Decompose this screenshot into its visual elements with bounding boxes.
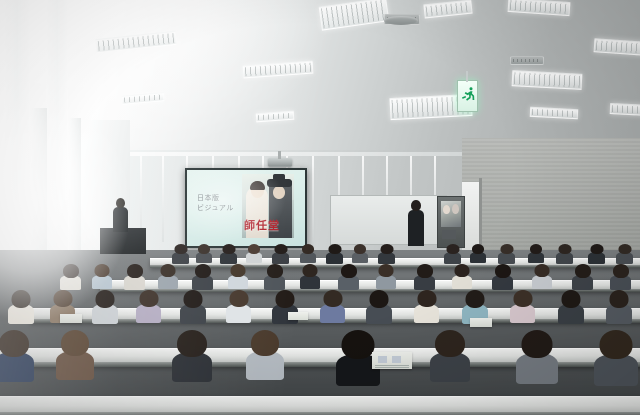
audience-member: [180, 290, 206, 324]
presenter: [113, 198, 128, 232]
audience-member-body: [300, 275, 320, 289]
audience-member: [606, 290, 632, 324]
wall-panel-line: [162, 156, 164, 242]
audience-member-head: [446, 244, 459, 254]
audience-member-head: [63, 264, 79, 278]
slide-caption-line1: 日本版: [197, 193, 234, 203]
audience-member: [452, 264, 472, 289]
audience-member-body: [158, 275, 178, 289]
projector-mount: [278, 151, 281, 159]
handout-left: [60, 314, 82, 323]
audience-member-head: [562, 290, 581, 308]
audience-member-head: [96, 290, 115, 308]
audience-member-head: [513, 290, 532, 307]
exit-sign-stem: [466, 71, 468, 82]
audience-member: [220, 244, 237, 264]
standing-staff-head: [411, 200, 421, 211]
slide-photo-woman-hair: [250, 181, 265, 190]
audience-member: [366, 290, 392, 324]
audience-member-head: [455, 264, 470, 277]
audience-member-head: [177, 330, 207, 357]
audience-member: [556, 244, 573, 264]
audience-member: [56, 330, 94, 380]
audience-member-head: [302, 244, 314, 254]
slide-photo: [242, 174, 294, 238]
audience-member-head: [380, 244, 393, 254]
ceiling-light-louver: [258, 113, 292, 120]
slide-photo-hat-brim: [267, 179, 292, 187]
audience-member: [352, 244, 368, 263]
audience-member: [192, 264, 213, 290]
audience-member-head: [435, 330, 465, 357]
lecture-hall-photo: 日本版 ビジュアル 師任堂: [0, 0, 640, 415]
audience-member-head: [174, 244, 187, 254]
audience-member: [92, 290, 118, 324]
audience-member-head: [231, 264, 246, 277]
audience-member: [528, 244, 544, 263]
audience-member-head: [328, 244, 341, 254]
audience-member: [172, 244, 189, 264]
audience-member: [610, 264, 631, 290]
window-curtain: [46, 0, 68, 200]
audience-member-head: [522, 330, 553, 358]
ceiling-light-louver: [510, 0, 569, 14]
audience-member-head: [590, 244, 603, 254]
audience-member: [300, 264, 320, 289]
audience-member-head: [61, 330, 89, 356]
ceiling-light-louver: [612, 105, 640, 114]
ceiling-light-louver: [532, 109, 576, 117]
audience-member-head: [195, 264, 211, 278]
audience-member: [264, 264, 285, 290]
handout-figure: [392, 356, 401, 363]
audience-member: [444, 244, 461, 264]
slide-photo-hat-crown: [273, 174, 285, 181]
audience-member-head: [267, 264, 283, 278]
ceiling-air-vent: [510, 56, 544, 65]
audience-member: [172, 330, 212, 382]
ceiling-light-louver: [124, 94, 162, 102]
poster-artwork: [441, 201, 461, 227]
audience-member-head: [417, 264, 433, 278]
audience-member-head: [323, 290, 342, 307]
handout-text-line: [375, 365, 409, 366]
audience-member-head: [184, 290, 203, 308]
audience-member: [376, 264, 396, 289]
round-air-vent-icon: [384, 16, 418, 25]
audience-member: [0, 330, 34, 382]
whiteboard: [330, 195, 447, 245]
ceiling-light-louver: [426, 2, 471, 17]
audience-member: [558, 290, 584, 324]
audience-member: [616, 244, 633, 264]
wall-trim-band: [110, 152, 470, 156]
audience-member-head: [370, 290, 389, 308]
audience-member: [300, 244, 316, 263]
poster-face-left-icon: [443, 205, 450, 214]
audience-member-head: [274, 244, 287, 254]
presenter-head: [116, 198, 125, 208]
poster-caption-bar: [442, 230, 456, 239]
window-curtain: [4, 0, 30, 200]
audience-member: [326, 244, 343, 264]
standing-staff-body: [408, 210, 424, 246]
presenter-body: [113, 207, 128, 232]
slide-photo-man-figure: [269, 181, 292, 238]
slide-caption-line2: ビジュアル: [197, 203, 234, 213]
poster-face-right-icon: [452, 204, 459, 214]
audience-member-head: [530, 244, 542, 254]
audience-member: [246, 330, 284, 380]
audience-member-head: [354, 244, 366, 254]
ceiling-light-louver: [514, 72, 581, 87]
audience-member-head: [95, 264, 110, 277]
audience-member-head: [303, 264, 318, 277]
audience-member-head: [251, 330, 279, 356]
audience-member-head: [575, 264, 591, 278]
audience-member-head: [161, 264, 176, 277]
audience-member-body: [228, 275, 248, 289]
audience-member-head: [139, 290, 158, 307]
ceiling-light-louver: [245, 63, 311, 77]
exit-running-person-icon: [460, 86, 475, 106]
audience-member: [498, 244, 515, 264]
wall-panel-line: [312, 156, 314, 242]
audience-member: [572, 264, 593, 290]
audience-member: [60, 264, 81, 290]
audience-member-head: [610, 290, 629, 308]
handout-mid: [288, 312, 308, 320]
audience-member-head: [618, 244, 631, 254]
audience-member: [510, 290, 535, 323]
audience-member: [470, 244, 486, 263]
poster-display-stand: [437, 196, 465, 248]
slide-photo-man-face: [273, 186, 285, 199]
standing-staff-member: [408, 200, 424, 246]
audience-member: [338, 264, 359, 290]
emergency-exit-sign: [457, 80, 478, 112]
audience-member: [320, 290, 345, 323]
slide-photo-woman-figure: [246, 186, 268, 238]
audience-member-head: [229, 290, 248, 307]
slide-photo-sky: [242, 174, 294, 200]
audience-member: [136, 290, 161, 323]
audience-member-head: [466, 290, 485, 308]
audience-member-body: [376, 275, 396, 289]
audience-member-head: [127, 264, 143, 278]
audience-member: [92, 264, 112, 289]
audience-member-head: [53, 290, 72, 307]
audience-member-head: [341, 264, 357, 278]
audience-member-head: [248, 244, 260, 254]
audience-member-body: [92, 275, 112, 289]
audience-member: [8, 290, 34, 324]
audience-member: [226, 290, 251, 323]
audience-member: [272, 244, 289, 264]
audience-member-head: [500, 244, 513, 254]
audience-member: [430, 330, 470, 382]
audience-member-head: [613, 264, 629, 278]
audience-member: [196, 244, 212, 263]
vent-slats: [513, 59, 541, 62]
audience-member-head: [535, 264, 550, 277]
audience-member: [246, 244, 262, 263]
handout-right: [470, 318, 492, 327]
slide-caption: 日本版 ビジュアル: [197, 193, 234, 213]
audience-member-head: [276, 290, 295, 308]
ceiling-light-panel: [610, 103, 640, 116]
audience-member-head: [342, 330, 375, 359]
audience-member: [228, 264, 248, 289]
audience-member: [588, 244, 605, 264]
ceiling-projector: [268, 158, 292, 167]
audience-member: [516, 330, 558, 384]
audience-member-head: [379, 264, 394, 277]
audience-member-body: [532, 275, 552, 289]
audience-member-head: [222, 244, 235, 254]
handout-text-line: [375, 367, 409, 368]
projection-screen-surface: 日本版 ビジュアル 師任堂: [187, 170, 305, 246]
audience-member: [124, 264, 145, 290]
audience-member: [158, 264, 178, 289]
slide-title: 師任堂: [244, 217, 280, 233]
audience-member-body: [452, 275, 472, 289]
audience-member-head: [472, 244, 484, 254]
audience-member-head: [0, 330, 29, 357]
desk-row-front: [0, 396, 640, 415]
audience-member-head: [558, 244, 571, 254]
ceiling-light-louver: [596, 40, 640, 53]
handout-front-center: [372, 352, 412, 369]
audience-member-head: [198, 244, 210, 254]
handout-figure: [378, 356, 387, 363]
projection-screen: 日本版 ビジュアル 師任堂: [185, 168, 307, 248]
audience-member-head: [12, 290, 31, 308]
audience-member: [594, 330, 638, 386]
audience-member-head: [417, 290, 436, 307]
audience-member-head: [600, 330, 633, 359]
audience-member-head: [495, 264, 511, 278]
audience-member: [532, 264, 552, 289]
audience-member: [378, 244, 395, 264]
slide-photo-woman-head: [251, 183, 264, 198]
audience-member: [414, 264, 435, 290]
audience-member: [492, 264, 513, 290]
audience-member: [414, 290, 439, 323]
